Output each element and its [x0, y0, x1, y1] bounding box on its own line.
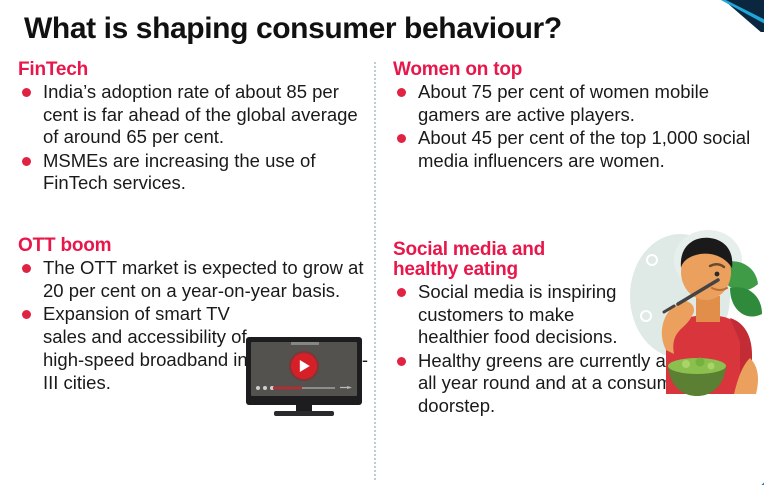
- bullet-dot-icon: [397, 134, 406, 143]
- bullet-list: About 75 per cent of women mobile gamers…: [393, 81, 753, 172]
- content-columns: FinTech India’s adoption rate of about 8…: [0, 60, 764, 485]
- corner-accent-top-right: [718, 0, 764, 32]
- list-item-text: India’s adoption rate of about 85 per ce…: [43, 81, 358, 147]
- list-item: MSMEs are increasing the use of FinTech …: [18, 150, 368, 195]
- navy-triangle-shape: [718, 0, 764, 32]
- list-item: The OTT market is expected to grow at 20…: [18, 257, 368, 302]
- bullet-dot-icon: [397, 88, 406, 97]
- section-heading: Social media and healthy eating: [393, 240, 593, 280]
- bullet-dot-icon: [22, 264, 31, 273]
- list-item: About 45 per cent of the top 1,000 socia…: [393, 127, 753, 172]
- progress-track: [273, 387, 335, 389]
- list-item: Healthy greens are currently accessible …: [393, 350, 753, 418]
- play-triangle: [300, 360, 310, 372]
- column-divider: [374, 62, 376, 480]
- list-item-text: Social media is inspiring customers to m…: [418, 281, 618, 347]
- list-item-text: Healthy greens are currently accessible …: [418, 350, 742, 416]
- bullet-dot-icon: [22, 157, 31, 166]
- bullet-dot-icon: [397, 288, 406, 297]
- progress-fill: [273, 387, 302, 389]
- smart-tv-icon: [240, 337, 368, 419]
- bullet-list: India’s adoption rate of about 85 per ce…: [18, 81, 368, 195]
- section-women-on-top: Women on top About 75 per cent of women …: [393, 60, 753, 173]
- list-item: Expansion of smart TV sales and accessib…: [18, 303, 271, 348]
- bullet-dot-icon: [22, 88, 31, 97]
- section-social-media-healthy-eating: Social media and healthy eating Social m…: [393, 240, 753, 418]
- page-title: What is shaping consumer behaviour?: [24, 12, 562, 46]
- bullet-dot-icon: [22, 310, 31, 319]
- list-item-text: About 45 per cent of the top 1,000 socia…: [418, 127, 750, 171]
- cyan-edge-shape: [718, 0, 764, 32]
- section-heading: OTT boom: [18, 236, 368, 256]
- list-item-text: Expansion of smart TV sales and accessib…: [43, 303, 247, 347]
- list-item: Social media is inspiring customers to m…: [393, 281, 640, 349]
- bullet-dot-icon: [397, 357, 406, 366]
- list-item-text: About 75 per cent of women mobile gamers…: [418, 81, 709, 125]
- control-dot: [263, 386, 267, 390]
- section-fintech: FinTech India’s adoption rate of about 8…: [18, 60, 368, 196]
- list-item-text: MSMEs are increasing the use of FinTech …: [43, 150, 316, 194]
- screen-glare: [291, 342, 319, 345]
- list-item-text: The OTT market is expected to grow at 20…: [43, 257, 363, 301]
- tv-stand-base: [274, 411, 334, 416]
- play-button-icon: [291, 353, 317, 379]
- player-control-dots: [256, 386, 274, 390]
- section-heading: Women on top: [393, 60, 753, 80]
- bullet-list: Social media is inspiring customers to m…: [393, 281, 753, 417]
- section-heading: FinTech: [18, 60, 368, 80]
- list-item: India’s adoption rate of about 85 per ce…: [18, 81, 368, 149]
- infographic-canvas: What is shaping consumer behaviour? FinT…: [0, 0, 764, 485]
- list-item: About 75 per cent of women mobile gamers…: [393, 81, 753, 126]
- forward-icon: [340, 386, 352, 389]
- control-dot: [256, 386, 260, 390]
- tv-screen: [251, 342, 357, 396]
